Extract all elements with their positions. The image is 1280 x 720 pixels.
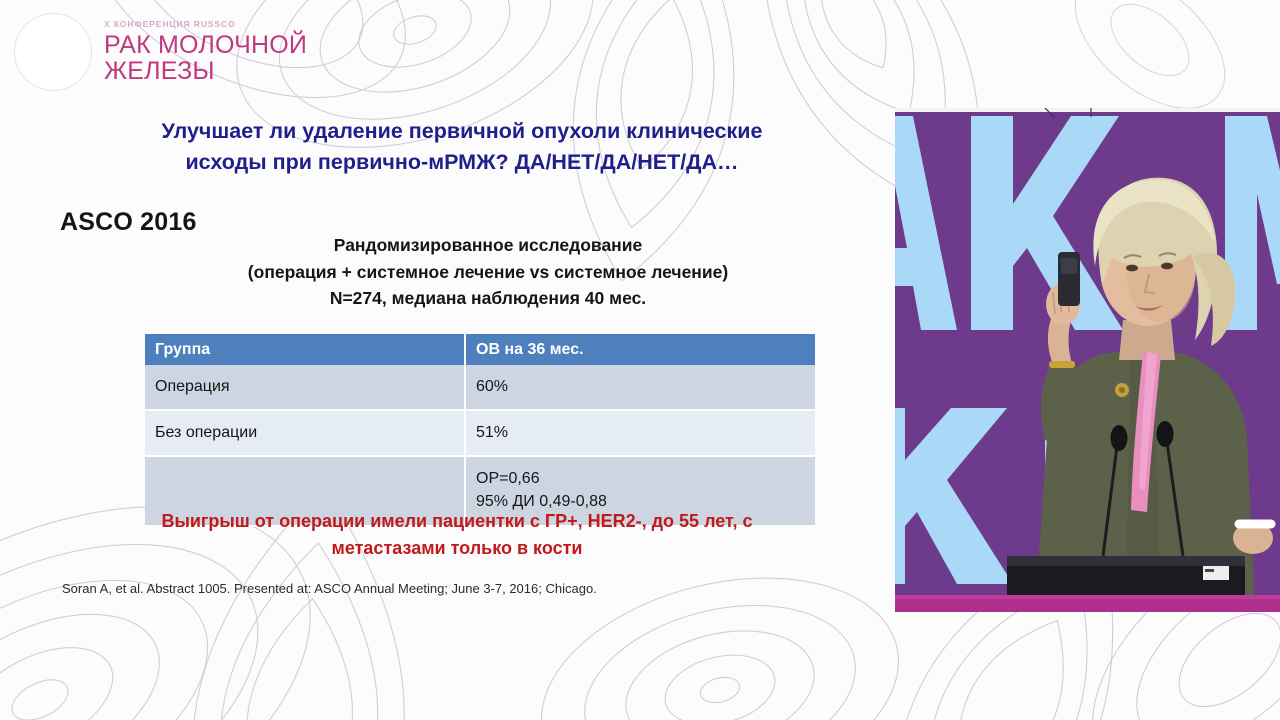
study-line-3: N=274, медиана наблюдения 40 мес. (150, 285, 826, 312)
table-row: Операция 60% (145, 365, 815, 410)
brand-line-2: ЖЕЛЕЗЫ (104, 58, 307, 84)
study-line-1: Рандомизированное исследование (150, 232, 826, 259)
citation-reference: Soran A, et al. Abstract 1005. Presented… (62, 581, 597, 596)
table-row: Без операции 51% (145, 410, 815, 456)
table-cell-group: Операция (145, 365, 465, 410)
brand-wordmark: X КОНФЕРЕНЦИЯ RUSSCO РАК МОЛОЧНОЙ ЖЕЛЕЗЫ (104, 20, 307, 85)
table-header-row: Группа ОВ на 36 мес. (145, 334, 815, 365)
conclusion-line-1: Выигрыш от операции имели пациентки с ГР… (62, 508, 852, 535)
conclusion-text: Выигрыш от операции имели пациентки с ГР… (62, 508, 852, 562)
logo-ring (14, 13, 92, 91)
slide-title-line-2: исходы при первично-мРМЖ? ДА/НЕТ/ДА/НЕТ/… (62, 147, 862, 178)
table-cell-value: 51% (465, 410, 815, 456)
table-header-group: Группа (145, 334, 465, 365)
presentation-slide: RUSSCO X КОНФЕРЕНЦИЯ RUSSCO РАК МОЛОЧНОЙ… (0, 0, 1280, 720)
study-description: Рандомизированное исследование (операция… (150, 232, 826, 312)
conclusion-line-2: метастазами только в кости (62, 535, 852, 562)
speaker-video-panel[interactable] (895, 108, 1280, 612)
slide-title-line-1: Улучшает ли удаление первичной опухоли к… (62, 116, 862, 147)
hazard-ratio-value: ОР=0,66 (476, 468, 805, 491)
slide-header: RUSSCO X КОНФЕРЕНЦИЯ RUSSCO РАК МОЛОЧНОЙ… (0, 0, 420, 104)
slide-title: Улучшает ли удаление первичной опухоли к… (62, 116, 862, 177)
russco-starburst-logo-icon: RUSSCO (14, 13, 92, 91)
conference-line: X КОНФЕРЕНЦИЯ RUSSCO (104, 20, 307, 29)
table-header-os36: ОВ на 36 мес. (465, 334, 815, 365)
results-table: Группа ОВ на 36 мес. Операция 60% Без оп… (145, 334, 815, 527)
study-line-2: (операция + системное лечение vs системн… (150, 259, 826, 286)
table-cell-value: 60% (465, 365, 815, 410)
brand-line-1: РАК МОЛОЧНОЙ (104, 32, 307, 58)
table-cell-group: Без операции (145, 410, 465, 456)
